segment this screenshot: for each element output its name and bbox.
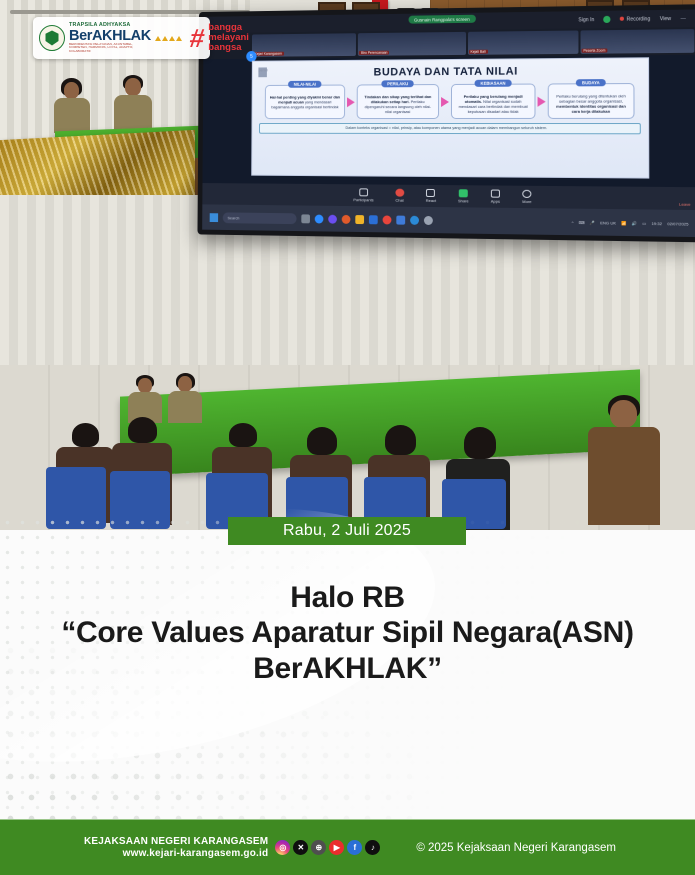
website-icon[interactable]: ⊕ [311,840,326,855]
participant-thumbnail[interactable]: Peserta Zoom [580,29,694,54]
teams-icon[interactable] [328,214,337,223]
zoom-recording-indicator: Recording [620,16,650,23]
language-indicator[interactable]: ENG UK [600,220,616,225]
slide-box-rest: Perilaku berulang yang ditentukan oleh s… [556,93,625,103]
slide-box-nilai-nilai: NILAI-NILAI Hal-hal penting yang diyakin… [265,85,345,120]
wifi-icon[interactable]: 📶 [621,220,626,225]
taskbar-search-input[interactable]: Search [223,212,297,224]
keyboard-icon[interactable]: ⌨ [579,219,585,224]
far-official [168,373,202,423]
berakhlak-wordmark: BerAKHLAK [69,29,151,44]
zoom-react-button[interactable]: React [426,189,436,203]
zoom-more-button[interactable]: More [522,190,531,204]
participant-thumbnail[interactable]: Kejari Karangasem [252,33,356,57]
chevron-up-icon[interactable]: ^ [572,219,574,224]
slide-box-bold: membentuk identitas organisasi dan cara … [556,104,626,114]
battery-icon[interactable]: ▭ [642,220,646,225]
window-minimize-icon[interactable]: — [681,15,686,21]
file-explorer-icon[interactable] [301,214,310,223]
stars-decor [155,36,182,41]
slide-box-budaya: BUDAYA Perilaku berulang yang ditentukan… [548,83,635,119]
far-official [128,375,162,423]
share-screen-icon [459,189,468,197]
start-button-icon[interactable] [210,213,218,222]
screen-share-label: Gusnain Rangpala's screen [408,15,476,24]
berakhlak-brand-badge: TRAPSILA ADHYAKSA BerAKHLAK BERORIENTASI… [33,17,210,59]
headline-line-1: Halo RB [0,580,695,615]
participant-thumbnail[interactable]: Biro Perencanaan [358,32,465,56]
social-links: ◎ ✕ ⊕ ▶ f ♪ [275,840,380,855]
slide-logo: pemri [258,67,279,77]
windows-taskbar: Search ^ ⌨ 🎤 ENG UK 📶 🔊 ▭ [202,204,695,237]
arrow-icon [538,96,546,106]
tiktok-icon[interactable]: ♪ [365,840,380,855]
footer-bar: KEJAKSAAN NEGERI KARANGASEM www.kejari-k… [0,820,695,875]
zoom-apps-button[interactable]: Apps [491,190,500,204]
headline-line-3: BerAKHLAK” [0,651,695,686]
slide-box-caption: BUDAYA [576,79,606,86]
gear-icon[interactable] [424,215,433,224]
slide-box-caption: PERILAKU [381,80,414,87]
hashtag-icon: # [188,28,205,49]
seated-official [52,78,92,133]
microphone-icon[interactable]: 🎤 [590,220,595,225]
slide-box-row: NILAI-NILAI Hal-hal penting yang diyakin… [252,83,648,119]
chat-icon [395,189,404,197]
slide-box-kebiasaan: KEBIASAAN Perilaku yang berulang menjadi… [451,84,536,119]
presenter-right [588,395,660,525]
slogan-line-3: bangsa [208,43,249,53]
edge-icon[interactable] [396,215,405,224]
browser-icon[interactable] [342,214,351,223]
zoom-view-button[interactable]: View [660,15,671,21]
slide-title: BUDAYA DAN TATA NILAI [253,64,648,79]
headline-line-2: “Core Values Aparatur Sipil Negara(ASN) [0,615,695,650]
berakhlak-values-line: BERORIENTASI PELAYANAN, AKUNTABEL, KOMPE… [69,43,151,52]
x-twitter-icon[interactable]: ✕ [293,840,308,855]
photo-collage: Sign In Recording View — Gusnain Rangpal… [0,0,695,530]
clock-time[interactable]: 19:32 [651,220,662,225]
facebook-icon[interactable]: f [347,840,362,855]
presentation-slide: pemri BUDAYA DAN TATA NILAI NILAI-NILAI … [251,57,649,178]
page-title: Halo RB “Core Values Aparatur Sipil Nega… [0,580,695,686]
date-text: Rabu, 2 Juli 2025 [283,522,411,540]
zoom-share-button[interactable]: Share [458,189,469,203]
poster-root: Sign In Recording View — Gusnain Rangpal… [0,0,695,875]
instagram-icon[interactable]: ◎ [275,840,290,855]
participant-thumbnail[interactable]: Kejati Bali [468,30,579,54]
more-icon [522,190,531,198]
kejaksaan-seal-icon [39,25,65,51]
participants-icon [359,188,368,196]
copyright-text: © 2025 Kejaksaan Negeri Karangasem [416,842,616,854]
youtube-icon[interactable]: ▶ [329,840,344,855]
bangga-melayani-bangsa-slogan: bangga melayani bangsa [208,23,249,52]
arrow-icon [347,97,355,107]
zoom-leave-button[interactable]: Leave [679,202,691,207]
taskbar-tray: ^ ⌨ 🎤 ENG UK 📶 🔊 ▭ 19:32 02/07/2025 [572,219,689,226]
footer-branding: KEJAKSAAN NEGERI KARANGASEM www.kejari-k… [84,836,380,858]
arrow-icon [441,96,449,106]
slide-box-caption: NILAI-NILAI [288,81,322,88]
chrome-icon[interactable] [383,215,392,224]
footer-text-block: KEJAKSAAN NEGERI KARANGASEM www.kejari-k… [84,836,268,858]
slide-box-perilaku: PERILAKU Tindakan dan sikap yang terliha… [357,84,439,119]
volume-icon[interactable]: 🔊 [632,220,637,225]
zoom-participants-button[interactable]: Participants [353,188,373,202]
settings-app-icon[interactable] [410,215,419,224]
clock-date[interactable]: 02/07/2025 [667,221,688,226]
apps-icon [491,190,500,198]
participant-thumbnail-strip: Kejari Karangasem Biro Perencanaan Kejat… [203,27,695,59]
seated-official [112,75,154,133]
slide-footnote: Dalam konteks organisasi = nilai, prinsi… [259,123,641,134]
slide-box-caption: KEBIASAAN [475,80,512,87]
gold-table-skirt [0,130,195,205]
zoom-app-icon[interactable] [315,214,324,223]
word-icon[interactable] [369,215,378,224]
encryption-shield-icon [604,16,611,23]
footer-org-name: KEJAKSAAN NEGERI KARANGASEM [84,836,268,847]
berakhlak-text-block: TRAPSILA ADHYAKSA BerAKHLAK BERORIENTASI… [69,23,151,52]
react-icon [426,189,435,197]
footer-website-url[interactable]: www.kejari-karangasem.go.id [123,848,269,859]
audience-bottom-photo [0,195,695,530]
zoom-sign-in-button[interactable]: Sign In [578,17,594,23]
folder-icon[interactable] [355,215,364,224]
date-banner: Rabu, 2 Juli 2025 [228,517,466,545]
tv-zoom-screen: Sign In Recording View — Gusnain Rangpal… [197,4,695,242]
zoom-chat-button[interactable]: Chat [395,189,404,203]
